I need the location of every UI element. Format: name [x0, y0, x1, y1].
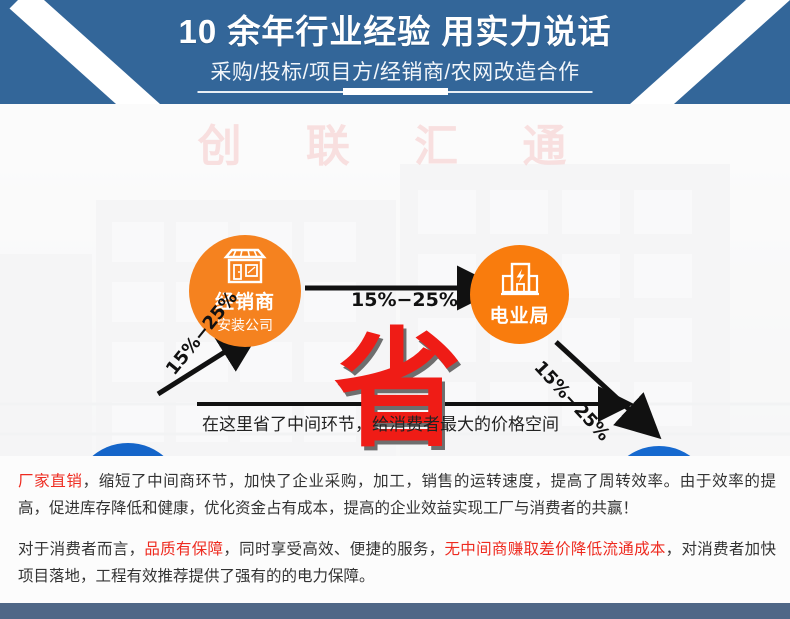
node-power-bureau[interactable]: 电业局 — [470, 245, 569, 344]
storefront-icon — [222, 248, 268, 284]
paragraph-2-part-c: ，同时享受高效、便捷的服务， — [223, 541, 444, 558]
highlight-quality-assured: 品质有保障 — [144, 541, 223, 558]
description-section: 厂家直销，缩短了中间商环节，加快了企业采购，加工，销售的运转速度，提高了周转效率… — [0, 456, 790, 603]
flow-diagram: 创 联 汇 通 省 15%−25% 15%−25% 15%−25% 在这里省了中… — [0, 104, 790, 456]
footer-bar — [0, 603, 790, 619]
node-power-bureau-title: 电业局 — [489, 301, 549, 328]
power-building-icon — [500, 261, 540, 297]
page-header: 10 余年行业经验 用实力说话 采购/投标/项目方/经销商/农网改造合作 — [0, 0, 790, 104]
arrow-label-brand-to-consumer: 在这里省了中间环节，给消费者最大的价格空间 — [202, 410, 559, 435]
paragraph-2: 对于消费者而言，品质有保障，同时享受高效、便捷的服务，无中间商赚取差价降低流通成… — [18, 536, 776, 590]
arrow-label-dealer-to-power: 15%−25% — [351, 289, 458, 311]
page-title: 10 余年行业经验 用实力说话 — [0, 12, 790, 52]
highlight-factory-direct: 厂家直销 — [18, 473, 83, 490]
header-divider — [198, 90, 593, 93]
highlight-no-middleman: 无中间商赚取差价降低流通成本 — [445, 541, 666, 558]
paragraph-1-rest: ，缩短了中间商环节，加快了企业采购，加工，销售的运转速度，提高了周转效率。由于效… — [18, 473, 776, 517]
divider-center-block — [343, 88, 448, 95]
paragraph-1: 厂家直销，缩短了中间商环节，加快了企业采购，加工，销售的运转速度，提高了周转效率… — [18, 468, 776, 522]
paragraph-2-part-a: 对于消费者而言， — [18, 541, 144, 558]
page-subtitle: 采购/投标/项目方/经销商/农网改造合作 — [0, 56, 790, 86]
